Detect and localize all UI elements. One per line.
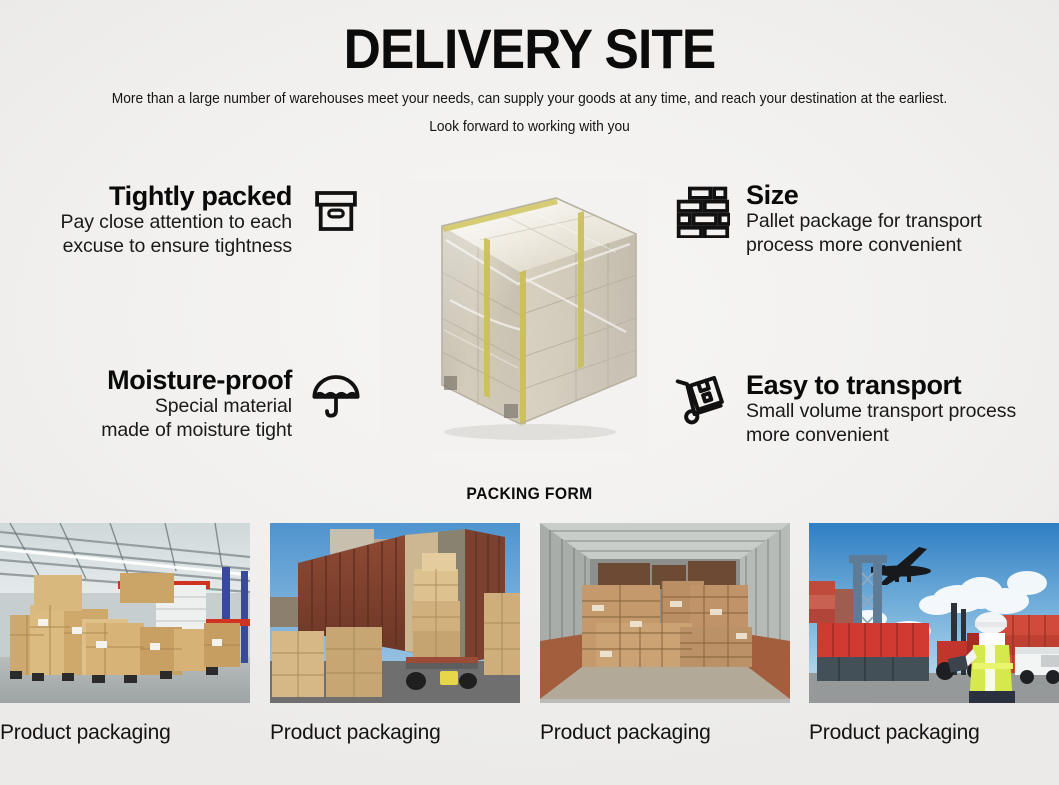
feature-text-group: Size Pallet package for transport proces… [746,180,982,258]
container-interior-photo[interactable] [540,523,790,703]
container-loading-photo[interactable] [270,523,520,703]
feature-desc-line-1: Pallet package for transport [746,210,982,234]
umbrella-icon [306,365,366,425]
feature-text-group: Tightly packed Pay close attention to ea… [61,181,292,259]
gallery-caption: Product packaging [809,721,1059,745]
packing-form-heading: PACKING FORM [26,485,1032,504]
port-logistics-photo[interactable] [809,523,1059,703]
hand-truck-icon [672,370,732,430]
wrapped-pallet-photo [380,180,648,452]
feature-desc-line-2: made of moisture tight [101,419,292,443]
subtitle-line-2: Look forward to working with you [26,119,1032,135]
packing-form-gallery: Product packaging [0,523,1059,768]
warehouse-interior-photo[interactable] [0,523,250,703]
gallery-item: Product packaging [540,523,790,745]
feature-desc-line-1: Small volume transport process [746,400,1016,424]
feature-moisture-proof: Moisture-proof Special material made of … [0,365,366,443]
gallery-item: Product packaging [270,523,520,745]
gallery-item: Product packaging [0,523,250,745]
feature-size: Size Pallet package for transport proces… [672,180,1059,258]
gallery-caption: Product packaging [0,721,250,745]
feature-desc-line-2: excuse to ensure tightness [63,235,292,259]
subtitle-line-1: More than a large number of warehouses m… [26,91,1032,107]
feature-desc-line-2: process more convenient [746,234,962,258]
feature-text-group: Easy to transport Small volume transport… [746,370,1016,448]
feature-desc-line-1: Special material [155,395,292,419]
feature-title: Moisture-proof [107,365,292,395]
gallery-caption: Product packaging [270,721,520,745]
gallery-caption: Product packaging [540,721,790,745]
brick-wall-icon [672,180,732,240]
feature-title: Size [746,180,798,210]
gallery-item: Product packaging [809,523,1059,745]
feature-tightly-packed: Tightly packed Pay close attention to ea… [0,181,366,259]
delivery-site-banner: DELIVERY SITE More than a large number o… [0,0,1059,785]
archive-box-icon [306,181,366,241]
feature-desc-line-2: more convenient [746,424,889,448]
feature-easy-to-transport: Easy to transport Small volume transport… [672,370,1059,448]
feature-text-group: Moisture-proof Special material made of … [101,365,292,443]
page-title: DELIVERY SITE [42,20,1016,79]
feature-desc-line-1: Pay close attention to each [61,211,292,235]
feature-title: Easy to transport [746,370,961,400]
feature-title: Tightly packed [109,181,292,211]
